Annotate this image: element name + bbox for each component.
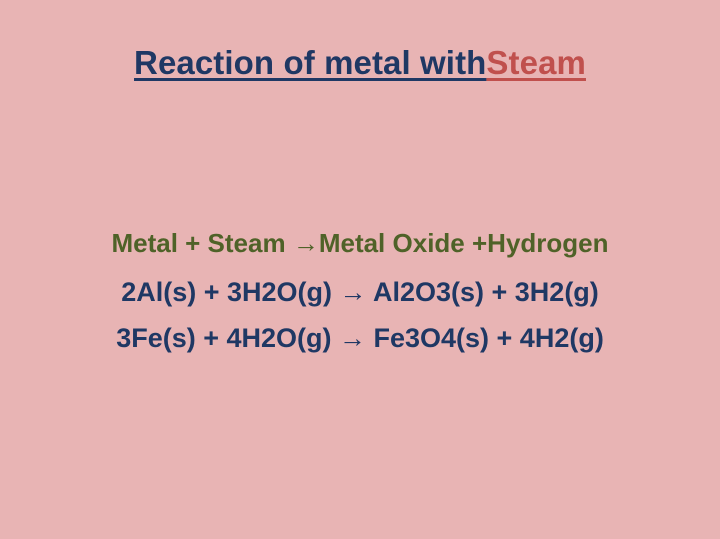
slide-body: Metal + Steam →Metal Oxide +Hydrogen 2Al…	[0, 226, 720, 361]
slide-title: Reaction of metal with Steam	[0, 44, 720, 82]
slide-canvas: Reaction of metal with Steam Metal + Ste…	[0, 0, 720, 539]
chemical-equation-iron: 3Fe(s) + 4H2O(g) → Fe3O4(s) + 4H2(g)	[0, 315, 720, 361]
title-accent-text: Steam	[486, 44, 586, 82]
title-main-text: Reaction of metal with	[134, 44, 486, 82]
chemical-equation-aluminium: 2Al(s) + 3H2O(g) → Al2O3(s) + 3H2(g)	[0, 260, 720, 315]
word-equation: Metal + Steam →Metal Oxide +Hydrogen	[0, 226, 720, 260]
